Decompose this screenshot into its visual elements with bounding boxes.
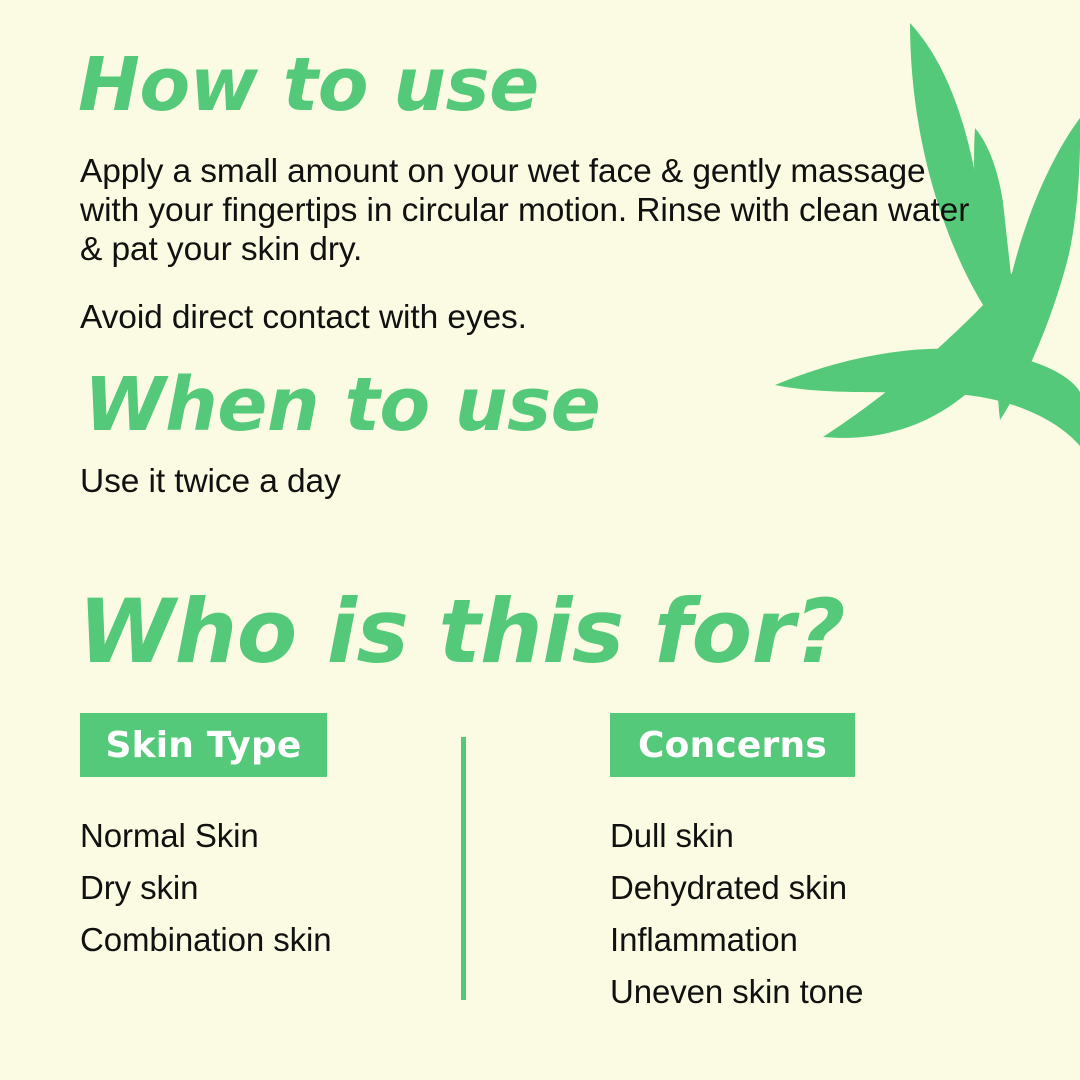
heading-how-to-use: How to use: [78, 48, 539, 122]
badge-skin-type: Skin Type: [80, 713, 327, 777]
list-item: Uneven skin tone: [610, 966, 863, 1018]
poster-canvas: How to use Apply a small amount on your …: [0, 0, 1080, 1080]
badge-concerns: Concerns: [610, 713, 855, 777]
list-item: Combination skin: [80, 914, 332, 966]
warning-text: Avoid direct contact with eyes.: [80, 298, 780, 337]
skin-type-list: Normal SkinDry skinCombination skin: [80, 810, 332, 966]
list-item: Inflammation: [610, 914, 863, 966]
list-item: Dehydrated skin: [610, 862, 863, 914]
heading-when-to-use: When to use: [84, 368, 600, 442]
list-item: Dull skin: [610, 810, 863, 862]
frequency-text: Use it twice a day: [80, 462, 680, 501]
heading-who-is-this-for: Who is this for?: [78, 588, 845, 676]
concerns-list: Dull skinDehydrated skinInflammationUnev…: [610, 810, 863, 1018]
list-item: Dry skin: [80, 862, 332, 914]
column-divider: [461, 737, 466, 1000]
list-item: Normal Skin: [80, 810, 332, 862]
instruction-text: Apply a small amount on your wet face & …: [80, 152, 970, 269]
